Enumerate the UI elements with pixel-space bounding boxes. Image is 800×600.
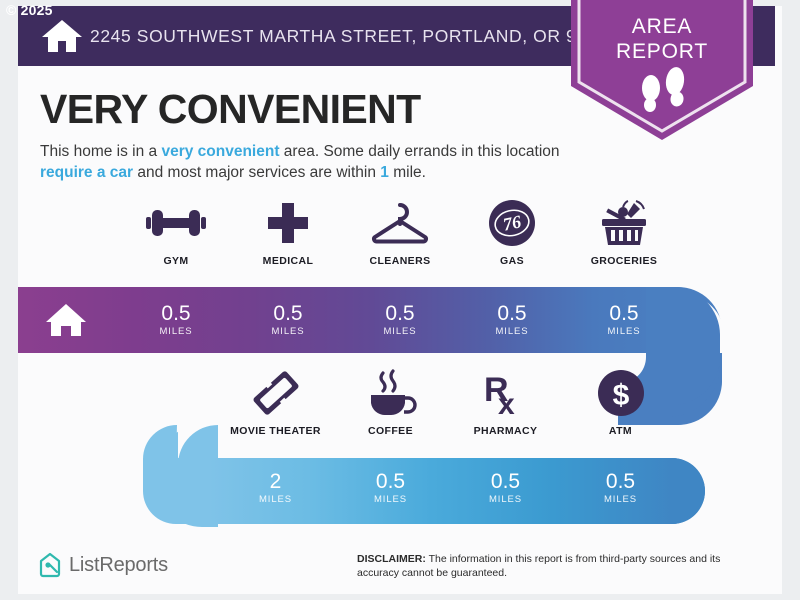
badge-line-1: AREA — [571, 14, 753, 39]
amenity-label: PHARMACY — [474, 425, 538, 437]
distance-pharmacy: 0.5 MILES — [448, 458, 563, 518]
amenity-label: MEDICAL — [263, 255, 314, 267]
distance-row-1: 0.5 MILES 0.5 MILES 0.5 MILES 0.5 MILES … — [120, 290, 680, 350]
amenity-row-2: MOVIE THEATER COFFEE R x PHARMACY — [218, 368, 678, 437]
amenity-row-1: GYM MEDICAL CLEANERS — [120, 198, 680, 267]
amenity-label: GYM — [163, 255, 188, 267]
listreports-logo[interactable]: ListReports — [38, 552, 168, 578]
distance-unit: MILES — [495, 326, 528, 337]
amenity-label: CLEANERS — [370, 255, 431, 267]
distance-gas: 0.5 MILES — [456, 290, 568, 350]
area-report-page: 2245 SOUTHWEST MARTHA STREET, PORTLAND, … — [0, 0, 800, 600]
blurb-part-2: area. Some daily errands in this locatio… — [280, 143, 560, 160]
hanger-icon — [370, 198, 430, 248]
amenity-atm: $ ATM — [563, 368, 678, 437]
distance-movie-theater: 2 MILES — [218, 458, 333, 518]
amenity-groceries: GROCERIES — [568, 198, 680, 267]
distance-gym: 0.5 MILES — [120, 290, 232, 350]
amenity-label: GAS — [500, 255, 524, 267]
amenity-label: GROCERIES — [591, 255, 658, 267]
amenity-label: MOVIE THEATER — [230, 425, 321, 437]
distance-unit: MILES — [259, 494, 292, 505]
area-report-badge: AREA REPORT — [571, 0, 753, 140]
badge-text: AREA REPORT — [571, 14, 753, 64]
distance-coffee: 0.5 MILES — [333, 458, 448, 518]
gas-76-icon: 76 — [488, 198, 536, 248]
distance-value: 0.5 — [273, 303, 302, 325]
distance-value: 0.5 — [606, 471, 635, 493]
dollar-icon: $ — [597, 368, 645, 418]
badge-line-2: REPORT — [571, 39, 753, 64]
disclaimer: DISCLAIMER: The information in this repo… — [357, 552, 757, 580]
listreports-logo-icon — [38, 552, 62, 578]
distance-value: 0.5 — [161, 303, 190, 325]
distance-value: 0.5 — [385, 303, 414, 325]
dumbbell-icon — [144, 198, 208, 248]
distance-value: 0.5 — [491, 471, 520, 493]
distance-value: 0.5 — [376, 471, 405, 493]
distance-unit: MILES — [383, 326, 416, 337]
home-icon — [40, 16, 84, 56]
summary-text: This home is in a very convenient area. … — [40, 141, 570, 183]
distance-unit: MILES — [489, 494, 522, 505]
page-title: VERY CONVENIENT — [40, 86, 421, 133]
amenity-label: COFFEE — [368, 425, 413, 437]
distance-medical: 0.5 MILES — [232, 290, 344, 350]
amenity-gym: GYM — [120, 198, 232, 267]
amenity-label: ATM — [609, 425, 632, 437]
svg-text:x: x — [498, 388, 515, 417]
property-address: 2245 SOUTHWEST MARTHA STREET, PORTLAND, … — [90, 26, 618, 47]
amenity-pharmacy: R x PHARMACY — [448, 368, 563, 437]
copyright-label: © 2025 — [6, 2, 53, 18]
distance-unit: MILES — [374, 494, 407, 505]
disclaimer-label: DISCLAIMER: — [357, 553, 426, 565]
blurb-part-1: This home is in a — [40, 143, 161, 160]
distance-unit: MILES — [607, 326, 640, 337]
blurb-highlight-3: 1 — [380, 164, 389, 181]
basket-icon — [598, 198, 650, 248]
amenity-gas: 76 GAS — [456, 198, 568, 267]
distance-unit: MILES — [159, 326, 192, 337]
amenity-coffee: COFFEE — [333, 368, 448, 437]
coffee-icon — [365, 368, 417, 418]
distance-unit: MILES — [604, 494, 637, 505]
amenity-medical: MEDICAL — [232, 198, 344, 267]
amenity-cleaners: CLEANERS — [344, 198, 456, 267]
blurb-part-3: and most major services are within — [133, 164, 380, 181]
distance-groceries: 0.5 MILES — [568, 290, 680, 350]
ticket-icon — [250, 368, 302, 418]
home-marker-icon — [44, 300, 88, 340]
distance-row-2: 2 MILES 0.5 MILES 0.5 MILES 0.5 MILES — [218, 458, 678, 518]
distance-value: 2 — [270, 471, 282, 493]
amenity-movie-theater: MOVIE THEATER — [218, 368, 333, 437]
blurb-part-4: mile. — [389, 164, 426, 181]
distance-atm: 0.5 MILES — [563, 458, 678, 518]
distance-unit: MILES — [271, 326, 304, 337]
logo-text: ListReports — [69, 554, 168, 577]
blurb-highlight-1: very convenient — [161, 143, 279, 160]
distance-cleaners: 0.5 MILES — [344, 290, 456, 350]
blurb-highlight-2: require a car — [40, 164, 133, 181]
distance-value: 0.5 — [497, 303, 526, 325]
distance-value: 0.5 — [609, 303, 638, 325]
medical-cross-icon — [266, 198, 310, 248]
rx-icon: R x — [481, 368, 531, 418]
svg-text:$: $ — [612, 379, 629, 412]
